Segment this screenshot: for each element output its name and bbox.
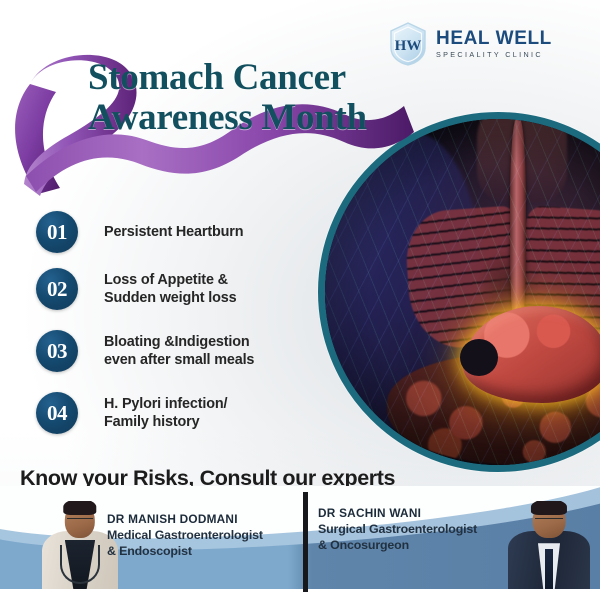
list-item-line: Persistent Heartburn <box>104 223 243 241</box>
list-item-line: H. Pylori infection/ <box>104 395 227 413</box>
list-item: 01 Persistent Heartburn <box>36 206 336 258</box>
doctor-role: Surgical Gastroenterologist & Oncosurgeo… <box>318 522 477 553</box>
list-item-line: Sudden weight loss <box>104 289 236 307</box>
doctor-name: DR MANISH DODMANI <box>107 512 263 526</box>
doctors-footer: DR MANISH DODMANI Medical Gastroenterolo… <box>0 486 600 600</box>
list-item-label: H. Pylori infection/ Family history <box>104 395 227 432</box>
page-title-line2: Awareness Month <box>88 98 367 138</box>
status-badge: 04 <box>36 392 78 434</box>
doctor-info-2: DR SACHIN WANI Surgical Gastroenterologi… <box>318 506 477 553</box>
logo-monogram: HW <box>395 38 422 54</box>
stethoscope-icon <box>60 545 100 584</box>
list-item-line: Family history <box>104 413 227 431</box>
glasses-icon <box>67 518 93 524</box>
list-item-line: even after small meals <box>104 351 254 369</box>
symptom-list: 01 Persistent Heartburn 02 Loss of Appet… <box>36 206 336 444</box>
necktie-icon <box>545 549 553 589</box>
doctor-role: Medical Gastroenterologist & Endoscopist <box>107 528 263 559</box>
list-item: 03 Bloating &Indigestion even after smal… <box>36 320 336 382</box>
list-item-label: Persistent Heartburn <box>104 223 243 241</box>
brand-tagline: SPECIALITY CLINIC <box>436 51 552 58</box>
page-title-line1: Stomach Cancer <box>88 57 346 98</box>
avatar <box>508 501 590 589</box>
footer-bottom-strip <box>0 589 600 600</box>
brand-logo[interactable]: HW HEAL WELL SPECIALITY CLINIC <box>388 22 552 66</box>
footer-divider <box>303 492 308 592</box>
list-item-label: Loss of Appetite & Sudden weight loss <box>104 271 236 308</box>
list-item: 02 Loss of Appetite & Sudden weight loss <box>36 258 336 320</box>
shield-icon: HW <box>388 22 428 66</box>
list-item: 04 H. Pylori infection/ Family history <box>36 382 336 444</box>
status-badge: 02 <box>36 268 78 310</box>
list-item-line: Loss of Appetite & <box>104 271 236 289</box>
list-item-label: Bloating &Indigestion even after small m… <box>104 333 254 370</box>
stomach-highlight-icon <box>463 306 600 403</box>
poster-canvas: Stomach Cancer Awareness Month HW HEAL W… <box>0 0 600 600</box>
doctor-info-1: DR MANISH DODMANI Medical Gastroenterolo… <box>107 512 263 559</box>
list-item-line: Bloating &Indigestion <box>104 333 254 351</box>
glasses-icon <box>535 518 563 524</box>
page-title: Stomach Cancer Awareness Month <box>88 58 367 138</box>
doctor-name: DR SACHIN WANI <box>318 506 477 520</box>
status-badge: 03 <box>36 330 78 372</box>
status-badge: 01 <box>36 211 78 253</box>
brand-name: HEAL WELL <box>436 29 552 48</box>
